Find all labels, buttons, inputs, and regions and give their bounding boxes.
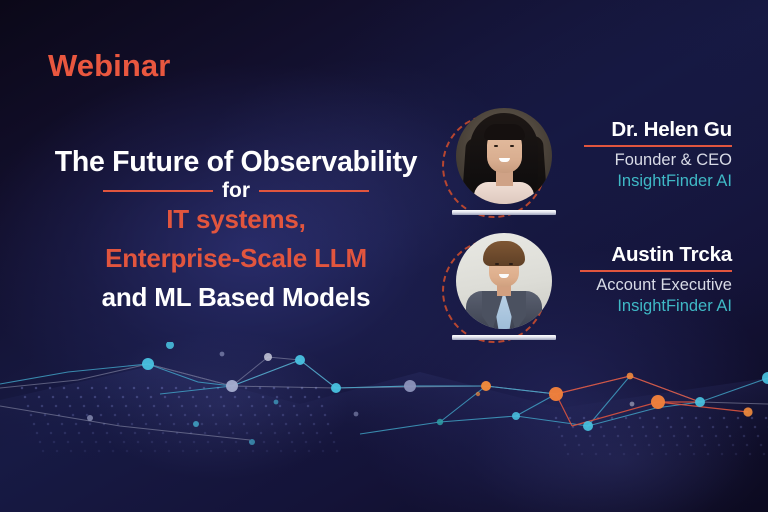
- speaker-photo-wrap: [442, 108, 554, 226]
- network-graphic: [0, 342, 768, 512]
- avatar: [456, 233, 552, 329]
- title-line-1: The Future of Observability: [30, 148, 442, 178]
- divider-rule-left: [103, 190, 213, 192]
- title-line-3: Enterprise-Scale LLM: [30, 245, 442, 272]
- speaker-photo-wrap: [442, 233, 554, 351]
- photo-underbar: [452, 210, 556, 215]
- title-connector: for: [222, 179, 250, 203]
- photo-underbar: [452, 335, 556, 340]
- avatar: [456, 108, 552, 204]
- speaker-card-austin-trcka: Austin Trcka Account Executive InsightFi…: [442, 233, 732, 351]
- speaker-info: Dr. Helen Gu Founder & CEO InsightFinder…: [564, 108, 732, 191]
- speaker-organization: InsightFinder AI: [564, 171, 732, 192]
- speaker-name-underline: [584, 145, 732, 147]
- title-line-2: IT systems,: [30, 206, 442, 233]
- speaker-info: Austin Trcka Account Executive InsightFi…: [564, 233, 732, 316]
- title-block: The Future of Observability for IT syste…: [30, 148, 442, 311]
- speaker-name-underline: [580, 270, 732, 272]
- title-line-4: and ML Based Models: [30, 284, 442, 311]
- speaker-card-helen-gu: Dr. Helen Gu Founder & CEO InsightFinder…: [442, 108, 732, 226]
- title-connector-row: for: [30, 179, 442, 203]
- speaker-organization: InsightFinder AI: [564, 296, 732, 317]
- speaker-name: Dr. Helen Gu: [564, 118, 732, 142]
- speaker-name: Austin Trcka: [564, 243, 732, 267]
- speaker-role: Account Executive: [564, 275, 732, 296]
- divider-rule-right: [259, 190, 369, 192]
- webinar-promo-banner: Webinar The Future of Observability for …: [0, 0, 768, 512]
- speaker-role: Founder & CEO: [564, 150, 732, 171]
- kicker-label: Webinar: [48, 48, 170, 84]
